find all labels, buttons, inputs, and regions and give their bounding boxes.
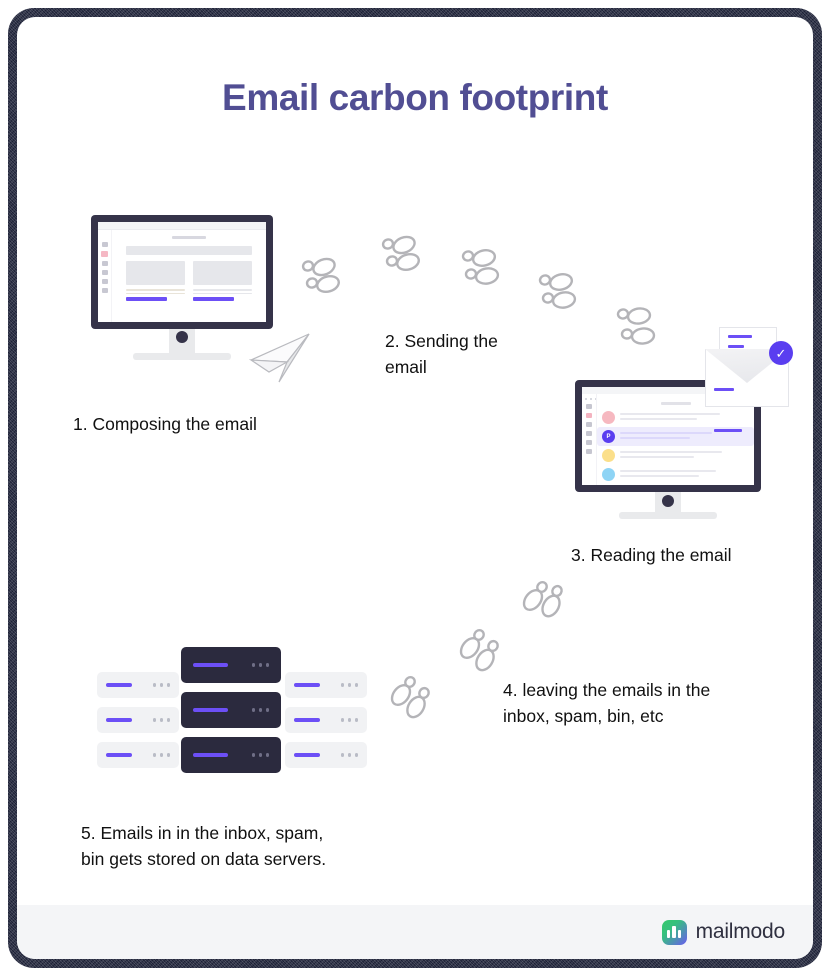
footprint-icon <box>454 630 500 676</box>
page-title: Email carbon footprint <box>17 77 813 119</box>
server-status-bar <box>106 718 132 722</box>
avatar <box>602 468 615 481</box>
server-status-bar <box>294 718 320 722</box>
compose-nav-rail[interactable] <box>98 230 112 322</box>
hero-block <box>126 246 252 255</box>
footprint-icon <box>517 582 563 626</box>
server-indicator-dots <box>252 663 270 667</box>
compose-body <box>112 230 266 322</box>
star-icon[interactable] <box>102 261 108 266</box>
list-item[interactable] <box>597 446 754 465</box>
footprint-icon <box>385 677 431 723</box>
column-right <box>193 261 252 301</box>
step-3-caption: 3. Reading the email <box>571 542 732 568</box>
compose-toolbar <box>118 234 260 241</box>
avatar <box>602 411 615 424</box>
server-status-bar <box>106 753 132 757</box>
column-left <box>126 261 185 301</box>
monitor-power-dot <box>662 495 674 507</box>
archive-icon[interactable] <box>586 449 592 454</box>
server-unit <box>285 672 367 698</box>
brand-placeholder <box>172 236 206 239</box>
step-5-caption: 5. Emails in in the inbox, spam, bin get… <box>81 820 421 873</box>
server-status-bar <box>106 683 132 687</box>
server-indicator-dots <box>252 753 270 757</box>
email-canvas <box>118 241 260 306</box>
grid-icon[interactable] <box>102 242 108 247</box>
message-preview <box>620 451 748 460</box>
server-indicator-dots <box>153 753 171 757</box>
check-icon: ✓ <box>769 341 793 365</box>
tag-icon[interactable] <box>102 279 108 284</box>
send-icon[interactable] <box>586 431 592 436</box>
paper-plane-icon <box>249 332 311 384</box>
message-preview <box>620 413 748 422</box>
letter-accent-line <box>728 335 752 338</box>
server-rack-center <box>181 647 281 782</box>
step-1-caption: 1. Composing the email <box>73 411 257 437</box>
avatar <box>602 449 615 462</box>
data-servers-illustration <box>97 647 367 782</box>
monitor-compose <box>91 215 273 329</box>
image-placeholder <box>126 261 185 285</box>
server-unit <box>181 737 281 773</box>
text-line <box>126 289 185 291</box>
two-column-block <box>126 261 252 301</box>
footprint-icon <box>382 232 426 272</box>
text-line <box>193 293 252 295</box>
server-status-bar <box>193 708 228 712</box>
server-status-bar <box>193 663 228 667</box>
server-indicator-dots <box>252 708 270 712</box>
server-unit <box>181 647 281 683</box>
monitor-base <box>619 512 717 519</box>
step-4-caption: 4. leaving the emails in the inbox, spam… <box>503 677 793 730</box>
server-rack-left <box>97 672 179 777</box>
footprint-icon <box>302 254 346 294</box>
compose-app <box>98 230 266 322</box>
envelope-accent-line <box>714 388 734 391</box>
monitor-compose-screen <box>98 222 266 322</box>
monitor-base <box>133 353 231 360</box>
open-envelope-illustration: ✓ <box>697 327 789 409</box>
server-status-bar <box>294 753 320 757</box>
grid-icon[interactable] <box>586 404 592 409</box>
monitor-power-dot <box>176 331 188 343</box>
archive-icon[interactable] <box>102 288 108 293</box>
server-unit <box>285 707 367 733</box>
star-icon[interactable] <box>586 422 592 427</box>
inbox-nav-rail[interactable] <box>582 394 597 485</box>
inbox-icon[interactable] <box>586 413 592 418</box>
send-icon[interactable] <box>102 270 108 275</box>
footprint-icon <box>537 269 581 311</box>
list-item[interactable] <box>597 484 754 485</box>
image-placeholder <box>193 261 252 285</box>
text-line <box>193 289 252 291</box>
server-indicator-dots <box>341 753 359 757</box>
envelope-accent-line <box>714 429 742 432</box>
step-2-caption: 2. Sending the email <box>385 328 555 381</box>
server-indicator-dots <box>153 718 171 722</box>
brand-name: mailmodo <box>696 920 785 944</box>
cta-button[interactable] <box>126 297 167 301</box>
server-unit <box>97 707 179 733</box>
footprint-icon <box>460 245 504 287</box>
infographic-frame: Email carbon footprint <box>8 8 822 968</box>
server-indicator-dots <box>341 718 359 722</box>
mail-icon[interactable] <box>101 251 108 257</box>
inbox-monitor-illustration: P <box>567 327 807 527</box>
server-indicator-dots <box>153 683 171 687</box>
mailmodo-logo-icon <box>662 920 687 945</box>
list-item[interactable] <box>597 465 754 484</box>
server-unit <box>97 742 179 768</box>
text-line <box>126 293 185 295</box>
letter-accent-line <box>728 345 744 348</box>
server-unit <box>181 692 281 728</box>
footer-bar: mailmodo <box>17 905 813 959</box>
server-indicator-dots <box>341 683 359 687</box>
list-item[interactable] <box>597 408 754 427</box>
server-status-bar <box>193 753 228 757</box>
server-status-bar <box>294 683 320 687</box>
avatar: P <box>602 430 615 443</box>
server-unit <box>285 742 367 768</box>
browser-chrome-bar <box>98 222 266 230</box>
server-rack-right <box>285 672 367 777</box>
infographic-card: Email carbon footprint <box>17 17 813 959</box>
tag-icon[interactable] <box>586 440 592 445</box>
server-unit <box>97 672 179 698</box>
message-preview <box>620 470 748 479</box>
message-preview <box>620 432 748 441</box>
cta-button[interactable] <box>193 297 234 301</box>
